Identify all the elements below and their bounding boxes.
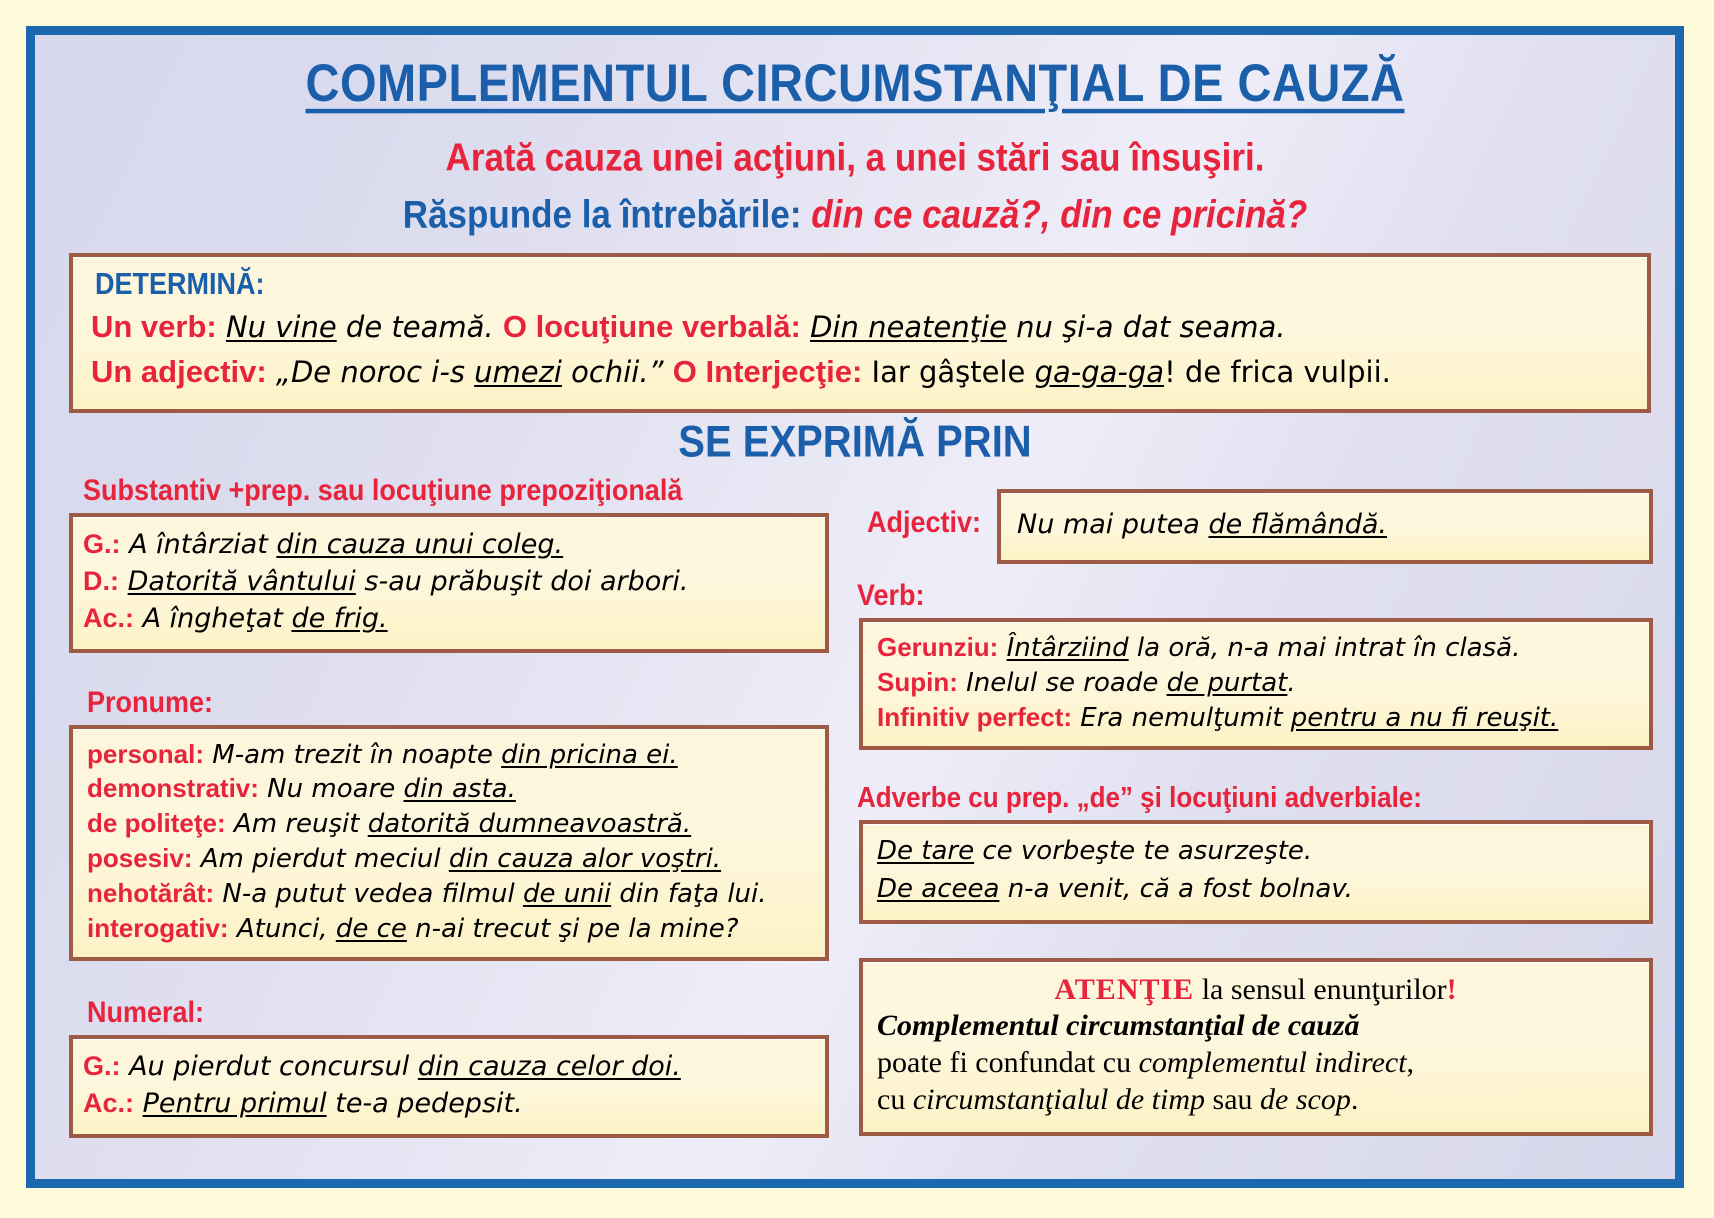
substantiv-caption: Substantiv +prep. sau locuţiune prepoziţ… <box>83 473 829 507</box>
determina-box: DETERMINĂ: Un verb: Nu vine de teamă. O … <box>69 253 1651 413</box>
case-key: Ac.: <box>83 1088 134 1118</box>
line-italic: complementul indirect <box>1139 1046 1407 1079</box>
determina-row-underlined-1: Nu vine <box>226 310 337 344</box>
substantiv-box: G.: A întârziat din cauza unui coleg. D.… <box>69 513 829 653</box>
adverbe-line: De aceea n-a venit, că a fost bolnav. <box>877 871 1635 909</box>
adverbe-box: De tare ce vorbeşte te asurzeşte. De ace… <box>859 820 1653 923</box>
line-post: n-ai trecut şi pe la mine? <box>407 914 739 944</box>
verb-line: Gerunziu: Întârziind la oră, n-a mai int… <box>877 631 1635 666</box>
line-post: n-a venit, că a fost bolnav. <box>999 874 1352 904</box>
line-post: . <box>1287 668 1295 698</box>
adverbe-caption: Adverbe cu prep. „de” şi locuţiuni adver… <box>857 781 1653 815</box>
determina-row: Un verb: Nu vine de teamă. O locuţiune v… <box>91 309 1629 345</box>
adjectiv-caption: Adjectiv: <box>867 505 981 539</box>
determina-row-pre-2: Iar gâştele <box>862 355 1034 389</box>
line-underlined: din cauza alor voştri. <box>449 844 721 874</box>
line-pre: Am pierdut meciul <box>193 844 449 874</box>
determina-row-underlined-2: Din neatenţie <box>810 310 1007 344</box>
numeral-box: G.: Au pierdut concursul din cauza celor… <box>69 1035 829 1137</box>
pronume-key: nehotărât: <box>87 878 214 908</box>
line-post: te-a pedepsit. <box>327 1088 523 1119</box>
pronume-caption: Pronume: <box>87 685 829 719</box>
pronume-line: posesiv: Am pierdut meciul din cauza alo… <box>87 842 811 877</box>
line-pre: Era nemulţumit <box>1072 703 1291 733</box>
line-underlined: de unii <box>523 879 611 909</box>
verb-key: Supin: <box>877 667 958 697</box>
line-pre: N-a putut vedea filmul <box>214 879 523 909</box>
line-pre: Atunci, <box>229 914 336 944</box>
determina-row-pre-1: „De noroc i-s <box>267 355 474 389</box>
determina-row-post-1: ochii.” <box>562 355 673 389</box>
line-underlined: de flămândă. <box>1208 509 1387 540</box>
case-key: G.: <box>83 1051 121 1081</box>
line-underlined: Datorită vântului <box>128 566 356 597</box>
pronume-box: personal: M-am trezit în noapte din pric… <box>69 725 829 962</box>
determina-row-label-2: O Interjecţie: <box>673 354 863 389</box>
pronume-line: interogativ: Atunci, de ce n-ai trecut ş… <box>87 912 811 947</box>
line-pre: A întârziat <box>121 529 277 560</box>
pronume-line: nehotărât: N-a putut vedea filmul de uni… <box>87 877 811 912</box>
determina-row-post-1: de teamă. <box>337 310 503 344</box>
substantiv-line: G.: A întârziat din cauza unui coleg. <box>83 526 811 563</box>
line-pre: A îngheţat <box>134 603 291 634</box>
pronume-line: personal: M-am trezit în noapte din pric… <box>87 738 811 773</box>
right-column: Adjectiv: Nu mai putea de flămândă. Verb… <box>853 475 1653 1136</box>
determina-row-label-1: Un verb: <box>91 309 217 344</box>
subtitle-questions: Răspunde la întrebările: din ce cauză?, … <box>35 193 1675 238</box>
left-column: Substantiv +prep. sau locuţiune prepoziţ… <box>69 475 829 1138</box>
line-pre <box>134 1088 143 1119</box>
line-post: la oră, n-a mai intrat în clasă. <box>1129 633 1521 663</box>
case-key: D.: <box>83 566 119 596</box>
pronume-key: demonstrativ: <box>87 773 259 803</box>
atentie-line-3: poate fi confundat cu complementul indir… <box>877 1045 1635 1082</box>
line-underlined: din cauza celor doi. <box>418 1051 681 1082</box>
line-underlined: Pentru primul <box>143 1088 327 1119</box>
pronume-key: personal: <box>87 739 204 769</box>
atentie-exclamation: ! <box>1447 973 1458 1006</box>
pronume-key: interogativ: <box>87 913 229 943</box>
pronume-key: de politeţe: <box>87 808 226 838</box>
atentie-heading-rest: la sensul enunţurilor <box>1194 973 1446 1006</box>
numeral-line: Ac.: Pentru primul te-a pedepsit. <box>83 1085 811 1122</box>
line-post: din faţa lui. <box>611 879 766 909</box>
line-underlined: De aceea <box>877 874 999 904</box>
verb-box: Gerunziu: Întârziind la oră, n-a mai int… <box>859 618 1653 750</box>
determina-row-underlined-2: ga-ga-ga <box>1035 355 1164 389</box>
determina-row-label-2: O locuţiune verbală: <box>503 309 801 344</box>
case-key: G.: <box>83 529 121 559</box>
line-underlined: pentru a nu fi reuşit. <box>1291 703 1558 733</box>
line-post: ce vorbeşte te asurzeşte. <box>974 836 1312 866</box>
pronume-line: demonstrativ: Nu moare din asta. <box>87 772 811 807</box>
case-key: Ac.: <box>83 603 134 633</box>
verb-line: Infinitiv perfect: Era nemulţumit pentru… <box>877 701 1635 736</box>
substantiv-line: Ac.: A îngheţat de frig. <box>83 600 811 637</box>
line-underlined: Întârziind <box>1007 633 1129 663</box>
pronume-key: posesiv: <box>87 843 193 873</box>
line-underlined: De tare <box>877 836 974 866</box>
line-underlined: din cauza unui coleg. <box>276 529 563 560</box>
determina-row-pre-2 <box>801 310 810 344</box>
atentie-box: ATENŢIE la sensul enunţurilor! Complemen… <box>859 958 1653 1136</box>
poster-panel: COMPLEMENTUL CIRCUMSTANŢIAL DE CAUZĂ Ara… <box>26 26 1684 1188</box>
verb-key: Gerunziu: <box>877 632 998 662</box>
adjectiv-row: Adjectiv: Nu mai putea de flămândă. <box>853 489 1653 564</box>
determina-row-post-2: ! de frica vulpii. <box>1164 355 1391 389</box>
determina-row-pre-1 <box>217 310 226 344</box>
line-underlined: din asta. <box>404 774 516 804</box>
line-underlined: de ce <box>336 914 407 944</box>
line-pre <box>998 633 1006 663</box>
subtitle-questions-prefix: Răspunde la întrebările: <box>403 193 811 237</box>
verb-key: Infinitiv perfect: <box>877 702 1072 732</box>
line-mid: sau <box>1205 1083 1260 1116</box>
line-italic-1: circumstanţialul de timp <box>913 1083 1205 1116</box>
subtitle-questions-list: din ce cauză?, din ce pricină? <box>811 193 1307 237</box>
line-pre: Inelul se roade <box>958 668 1167 698</box>
atentie-keyword: ATENŢIE <box>1054 973 1194 1006</box>
line-post: . <box>1351 1083 1359 1116</box>
adverbe-line: De tare ce vorbeşte te asurzeşte. <box>877 833 1635 871</box>
line-pre: Au pierdut concursul <box>121 1051 418 1082</box>
adjectiv-line: Nu mai putea de flămândă. <box>1017 507 1633 542</box>
numeral-caption: Numeral: <box>87 996 829 1030</box>
line-pre: Am reuşit <box>226 809 368 839</box>
atentie-line-4: cu circumstanţialul de timp sau de scop. <box>877 1082 1635 1119</box>
line-pre: poate fi confundat cu <box>877 1046 1139 1079</box>
determina-row-post-2: nu şi-a dat seama. <box>1007 310 1286 344</box>
page-title: COMPLEMENTUL CIRCUMSTANŢIAL DE CAUZĂ <box>35 52 1675 114</box>
line-underlined: din pricina ei. <box>501 740 678 770</box>
atentie-heading: ATENŢIE la sensul enunţurilor! <box>877 972 1635 1009</box>
line-post: s-au prăbuşit doi arbori. <box>356 566 689 597</box>
numeral-line: G.: Au pierdut concursul din cauza celor… <box>83 1048 811 1085</box>
adjectiv-box: Nu mai putea de flămândă. <box>997 489 1653 564</box>
determina-row: Un adjectiv: „De noroc i-s umezi ochii.”… <box>91 354 1629 390</box>
pronume-line: de politeţe: Am reuşit datorită dumneavo… <box>87 807 811 842</box>
se-exprima-prin-heading: SE EXPRIMĂ PRIN <box>35 417 1675 467</box>
line-underlined: datorită dumneavoastră. <box>368 809 691 839</box>
line-pre <box>119 566 128 597</box>
determina-header: DETERMINĂ: <box>95 267 1629 302</box>
line-pre: cu <box>877 1083 913 1116</box>
line-pre: Nu moare <box>259 774 404 804</box>
verb-line: Supin: Inelul se roade de purtat. <box>877 666 1635 701</box>
line-underlined: de purtat <box>1167 668 1288 698</box>
substantiv-line: D.: Datorită vântului s-au prăbuşit doi … <box>83 563 811 600</box>
atentie-bold-phrase: Complementul circumstanţial de cauză <box>877 1008 1635 1045</box>
line-post: , <box>1407 1046 1415 1079</box>
line-underlined: de frig. <box>291 603 387 634</box>
determina-row-label-1: Un adjectiv: <box>91 354 267 389</box>
line-pre: Nu mai putea <box>1017 509 1208 540</box>
determina-row-underlined-1: umezi <box>474 355 562 389</box>
verb-caption: Verb: <box>857 579 1653 613</box>
line-italic-2: de scop <box>1260 1083 1351 1116</box>
line-pre: M-am trezit în noapte <box>204 740 501 770</box>
subtitle-definition: Arată cauza unei acţiuni, a unei stări s… <box>35 136 1675 181</box>
